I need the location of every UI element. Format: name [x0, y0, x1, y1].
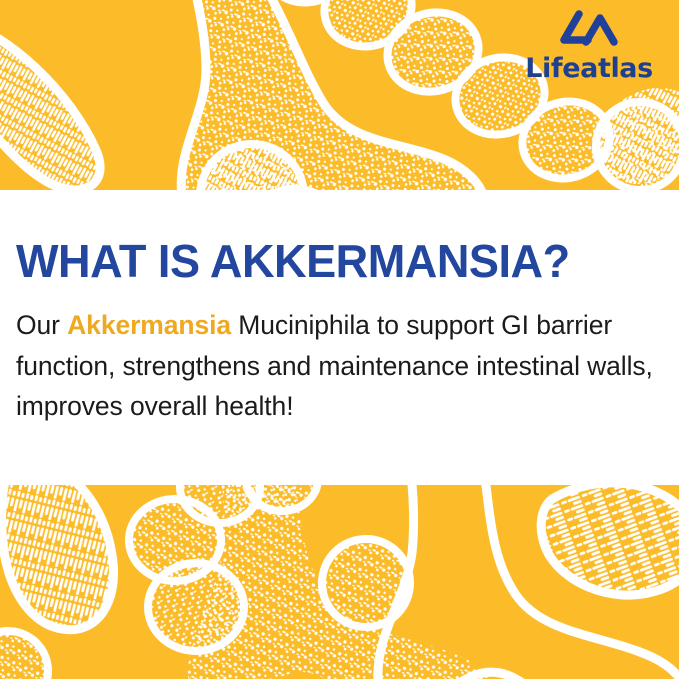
bacteria-illustration-bottom: [0, 485, 679, 679]
highlight-akkermansia: Akkermansia: [67, 310, 231, 340]
body-paragraph: Our Akkermansia Muciniphila to support G…: [16, 284, 663, 427]
brand-logo[interactable]: Lifeatlas: [509, 9, 669, 82]
brand-wordmark: Lifeatlas: [509, 55, 669, 82]
la-monogram-icon: [558, 9, 620, 53]
page-title: WHAT IS AKKERMANSIA?: [16, 190, 650, 284]
body-lead: Our: [16, 310, 67, 340]
bottom-decorative-band: [0, 485, 679, 679]
content-panel: WHAT IS AKKERMANSIA? Our Akkermansia Muc…: [0, 190, 679, 485]
top-decorative-band: Lifeatlas: [0, 0, 679, 190]
akkermansia-infographic: Lifeatlas WHAT IS AKKERMANSIA? Our Akker…: [0, 0, 679, 679]
